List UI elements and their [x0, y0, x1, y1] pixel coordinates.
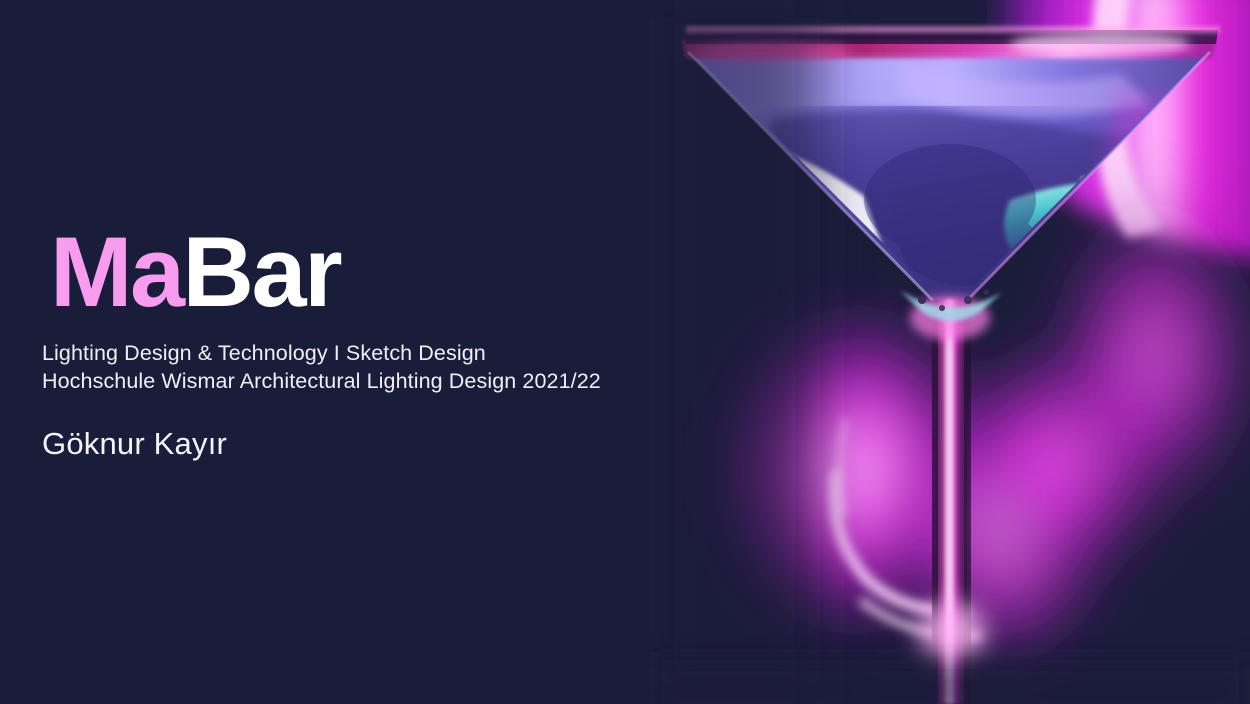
cocktail-glass-artwork: [650, 0, 1250, 704]
title-accent: Ma: [50, 216, 183, 327]
subtitle: Lighting Design & Technology I Sketch De…: [42, 339, 702, 395]
subtitle-line-2: Hochschule Wismar Architectural Lighting…: [42, 367, 702, 395]
title-plain: Bar: [183, 216, 341, 327]
page-title: MaBar: [50, 222, 702, 321]
author-name: Göknur Kayır: [42, 426, 702, 462]
title-text-block: MaBar Lighting Design & Technology I Ske…: [42, 222, 702, 462]
subtitle-line-1: Lighting Design & Technology I Sketch De…: [42, 339, 702, 367]
presentation-title-slide: MaBar Lighting Design & Technology I Ske…: [0, 0, 1250, 704]
cocktail-artwork-svg: [650, 0, 1250, 704]
